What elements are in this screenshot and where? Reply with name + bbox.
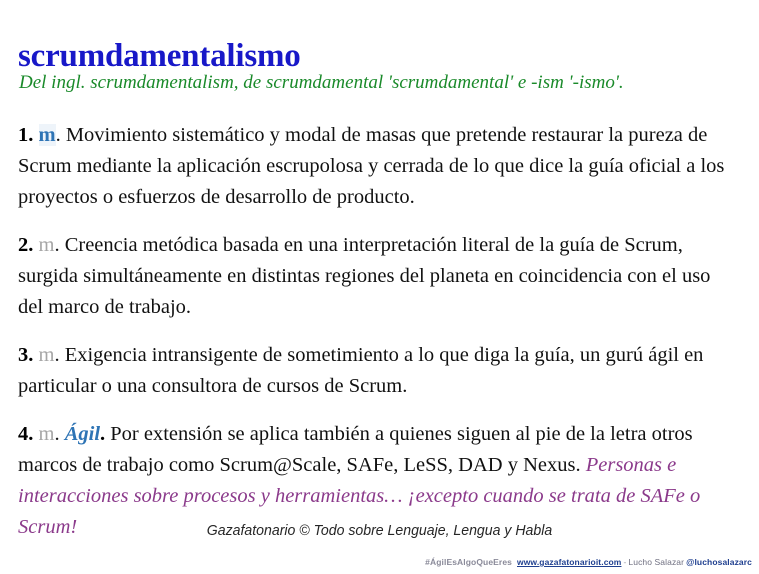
grammar-label: m	[39, 234, 55, 256]
definition-text: Creencia metódica basada en una interpre…	[18, 234, 710, 318]
footer-brand: Gazafatonario © Todo sobre Lenguaje, Len…	[23, 521, 736, 541]
dictionary-entry-slide: scrumdamentalismo Del ingl. scrumdamenta…	[0, 0, 759, 574]
definition-item-3: 3. m. Exigencia intransigente de sometim…	[18, 340, 740, 402]
cross-reference-link[interactable]: Ágil	[65, 423, 100, 445]
definition-text: Exigencia intransigente de sometimiento …	[18, 344, 703, 397]
credit-separator: -	[623, 557, 626, 567]
credit-author: Lucho Salazar	[628, 557, 684, 567]
definition-text: Movimiento sistemático y modal de masas …	[18, 124, 724, 208]
definition-number: 1.	[18, 124, 33, 146]
grammar-label[interactable]: m	[39, 124, 56, 146]
grammar-label: m	[39, 344, 55, 366]
grammar-label: m	[39, 423, 55, 445]
definition-number: 3.	[18, 344, 33, 366]
definition-list: 1. m. Movimiento sistemático y modal de …	[18, 120, 740, 543]
credit-hashtag: #ÁgilEsAlgoQueEres	[425, 557, 512, 567]
definition-number: 4.	[18, 423, 33, 445]
definition-item-2: 2. m. Creencia metódica basada en una in…	[18, 230, 740, 323]
credit-social-handle[interactable]: @luchosalazarc	[686, 557, 752, 567]
credit-bar: #ÁgilEsAlgoQueEreswww.gazafatonarioit.co…	[425, 556, 752, 568]
definition-item-1: 1. m. Movimiento sistemático y modal de …	[18, 120, 740, 213]
entry-etymology: Del ingl. scrumdamentalism, de scrumdame…	[19, 70, 624, 95]
grammar-period: .	[54, 423, 59, 445]
credit-website-link[interactable]: www.gazafatonarioit.com	[517, 557, 621, 567]
definition-number: 2.	[18, 234, 33, 256]
